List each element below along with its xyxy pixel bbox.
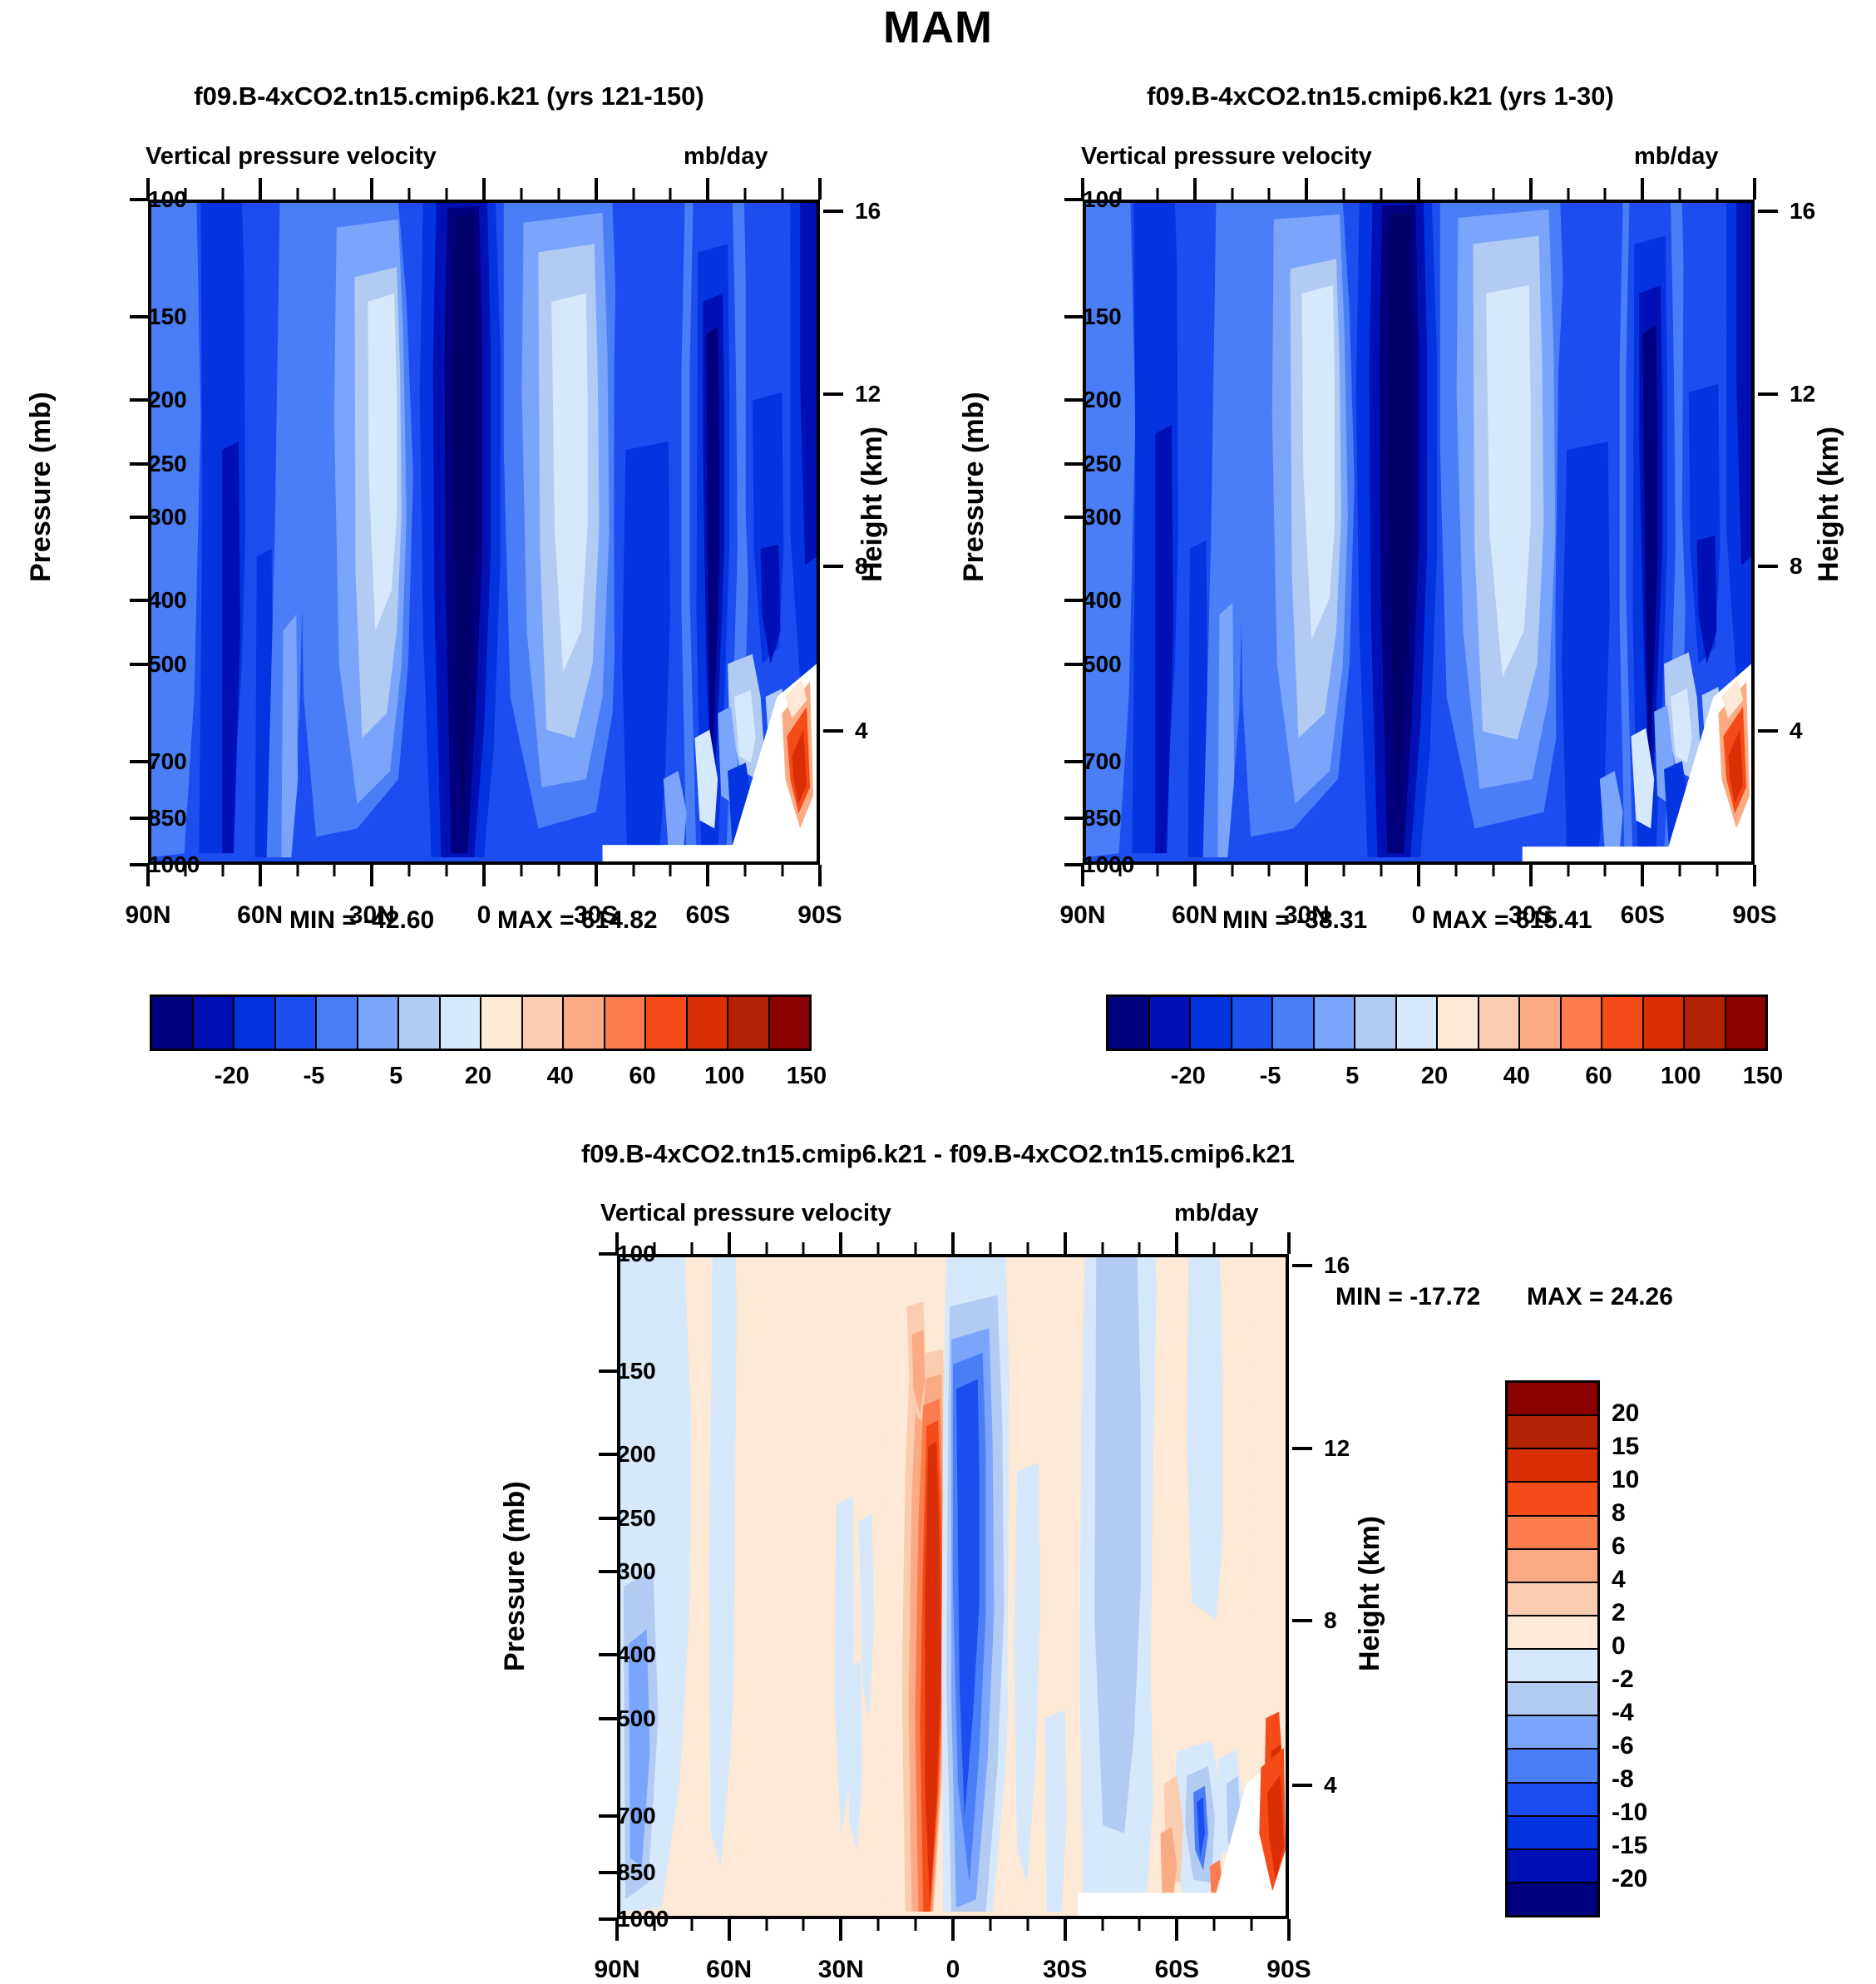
latitude-tick-mark [1193,865,1197,886]
colorbar-cell [194,997,235,1049]
colorbar-cell [1508,1583,1597,1616]
max-label-top-right: MAX = 615.41 [1432,906,1592,935]
latitude-minor-tick [1492,865,1494,876]
colorbar-cell [1273,997,1315,1049]
latitude-minor-tick [1156,865,1158,876]
latitude-minor-tick [915,1919,917,1931]
colorbar-cell [1508,1449,1597,1483]
colorbar-cell [1562,997,1603,1049]
colorbar-cell [1508,1550,1597,1583]
latitude-tick-mark [595,865,598,886]
latitude-minor-tick-top [1251,1242,1253,1254]
latitude-tick-mark-top [1529,178,1533,200]
latitude-tick-mark-top [951,1232,955,1254]
pressure-tick-mark [1064,817,1083,820]
height-tick-mark [1758,565,1778,568]
pressure-tick-mark [599,1653,617,1656]
colorbar-cell [1108,997,1150,1049]
colorbar-tick-label: -6 [1612,1732,1634,1760]
latitude-tick-mark [1753,865,1756,886]
height-tick-mark [1292,1447,1312,1450]
height-tick-mark [1758,392,1778,396]
pressure-tick-mark [130,198,148,201]
colorbar-cell [317,997,358,1049]
latitude-tick-mark-top [259,178,262,200]
colorbar-cell [358,997,400,1049]
colorbar-tick-label: 4 [1612,1566,1626,1594]
latitude-minor-tick [744,865,747,876]
latitude-tick-mark [259,865,262,886]
latitude-minor-tick [408,865,411,876]
y-axis-label-top-right: Pressure (mb) [958,392,990,582]
colorbar-cell [688,997,729,1049]
colorbar-tick-label: 20 [1421,1063,1448,1090]
latitude-tick-label: 90N [125,901,170,930]
latitude-minor-tick-top [1492,188,1494,200]
latitude-tick-mark [370,865,373,886]
latitude-tick-mark [706,865,709,886]
colorbar-cell [1602,997,1644,1049]
panel-subtitle-difference: Vertical pressure velocity [600,1200,891,1227]
panel-units-top-right: mb/day [1634,143,1719,170]
latitude-tick-mark [146,865,150,886]
latitude-tick-mark [951,1919,955,1941]
max-label-difference: MAX = 24.26 [1527,1283,1673,1311]
colorbar-top-left [150,994,812,1051]
main-title: MAM [0,2,1876,53]
colorbar-cell [1508,1817,1597,1850]
latitude-tick-mark [1417,865,1420,886]
latitude-tick-mark [1305,865,1308,886]
min-label-top-right: MIN = -38.31 [1222,906,1367,935]
colorbar-cell [1191,997,1232,1049]
latitude-minor-tick [669,865,672,876]
latitude-minor-tick-top [296,188,299,200]
latitude-tick-label: 30S [1043,1956,1087,1984]
colorbar-cell [523,997,565,1049]
latitude-minor-tick-top [557,188,560,200]
latitude-minor-tick-top [690,1242,693,1254]
pressure-tick-mark [1064,462,1083,466]
height-tick-label: 16 [855,198,881,225]
latitude-tick-mark [1064,1919,1067,1941]
latitude-tick-mark-top [728,1232,731,1254]
latitude-minor-tick-top [632,188,634,200]
latitude-minor-tick-top [184,188,186,200]
pressure-tick-mark [599,1453,617,1456]
pressure-tick-mark [1064,599,1083,602]
colorbar-tick-label: 0 [1612,1632,1626,1661]
latitude-minor-tick-top [1604,188,1607,200]
latitude-tick-mark-top [615,1232,619,1254]
colorbar-tick-label: 2 [1612,1599,1626,1627]
latitude-minor-tick-top [1679,188,1681,200]
colorbar-tick-label: -10 [1612,1799,1647,1827]
latitude-minor-tick-top [408,188,411,200]
latitude-minor-tick [802,1919,805,1931]
colorbar-tick-label: -20 [1612,1865,1647,1893]
colorbar-tick-label: 150 [787,1063,827,1090]
latitude-minor-tick-top [877,1242,880,1254]
height-tick-label: 16 [1790,198,1815,225]
latitude-tick-mark [1529,865,1533,886]
height-tick-label: 8 [1324,1607,1337,1634]
latitude-minor-tick-top [1156,188,1158,200]
colorbar-tick-label: 100 [704,1063,744,1090]
panel-units-top-left: mb/day [684,143,768,170]
latitude-minor-tick-top [782,188,784,200]
colorbar-cell [1508,1850,1597,1883]
colorbar-cell [1508,1784,1597,1817]
latitude-minor-tick-top [915,1242,917,1254]
latitude-tick-mark-top [595,178,598,200]
latitude-tick-label: 90S [1732,901,1776,930]
latitude-minor-tick-top [1138,1242,1141,1254]
pressure-tick-mark [130,462,148,466]
colorbar-cell [1508,1517,1597,1550]
latitude-tick-mark-top [370,178,373,200]
colorbar-tick-label: -8 [1612,1765,1634,1794]
latitude-tick-label: 0 [477,901,491,930]
colorbar-cell [1726,997,1766,1049]
pressure-tick-mark [599,1871,617,1874]
latitude-tick-label: 0 [946,1956,960,1984]
min-label-difference: MIN = -17.72 [1335,1283,1480,1311]
colorbar-tick-label: -2 [1612,1666,1634,1694]
latitude-minor-tick [1213,1919,1216,1931]
colorbar-tick-label: 40 [1503,1063,1530,1090]
colorbar-cell [152,997,194,1049]
height-tick-label: 4 [1790,718,1803,744]
latitude-tick-mark-top [1081,178,1084,200]
latitude-tick-label: 60S [1621,901,1665,930]
colorbar-cell [1520,997,1562,1049]
latitude-tick-mark-top [1417,178,1420,200]
colorbar-labels-top-right: -20-55204060100150 [1106,1063,1763,1096]
colorbar-cell [1644,997,1686,1049]
height-tick-label: 12 [855,381,881,407]
plot-area-top-left [148,200,820,865]
pressure-tick-mark [599,1370,617,1373]
latitude-minor-tick [184,865,186,876]
colorbar-tick-label: -15 [1612,1832,1647,1860]
latitude-minor-tick-top [1380,188,1383,200]
latitude-tick-mark [1287,1919,1291,1941]
colorbar-cell [1508,1616,1597,1650]
colorbar-tick-label: -20 [215,1063,249,1090]
pressure-tick-mark [599,1517,617,1520]
height-tick-mark [823,210,843,213]
latitude-tick-label: 90N [594,1956,639,1984]
pressure-tick-mark [130,516,148,519]
pressure-tick-mark [599,1570,617,1573]
latitude-minor-tick-top [1026,1242,1029,1254]
contour-field-difference [620,1257,1286,1916]
height-tick-label: 4 [855,718,868,744]
latitude-minor-tick [333,865,336,876]
colorbar-tick-label: -20 [1171,1063,1206,1090]
pressure-tick-mark [130,817,148,820]
latitude-minor-tick-top [1567,188,1569,200]
colorbar-tick-label: 5 [1345,1063,1359,1090]
height-tick-mark [1292,1784,1312,1787]
colorbar-cell [441,997,482,1049]
panel-title-top-left: f09.B-4xCO2.tn15.cmip6.k21 (yrs 121-150) [17,81,881,111]
height-tick-label: 8 [1790,553,1803,580]
latitude-minor-tick [1118,865,1121,876]
colorbar-tick-label: 6 [1612,1532,1626,1561]
latitude-minor-tick-top [765,1242,768,1254]
latitude-tick-mark [728,1919,731,1941]
colorbar-cell [1232,997,1274,1049]
latitude-tick-label: 60S [686,901,730,930]
latitude-minor-tick [1679,865,1681,876]
contour-field-top-left [151,203,817,861]
colorbar-cell [1508,1750,1597,1783]
height-tick-mark [823,729,843,733]
latitude-tick-mark-top [482,178,486,200]
colorbar-cell [481,997,523,1049]
latitude-minor-tick-top [333,188,336,200]
colorbar-cell [1355,997,1397,1049]
height-tick-label: 4 [1324,1772,1337,1799]
latitude-tick-mark [482,865,486,886]
panel-subtitle-top-left: Vertical pressure velocity [146,143,437,170]
colorbar-cell [399,997,441,1049]
colorbar-cell [1315,997,1356,1049]
latitude-minor-tick [1026,1919,1029,1931]
contour-field-top-right [1086,203,1751,861]
latitude-minor-tick-top [802,1242,805,1254]
colorbar-tick-label: 20 [465,1063,491,1090]
latitude-tick-label: 0 [1412,901,1426,930]
latitude-minor-tick-top [1118,188,1121,200]
latitude-minor-tick-top [1343,188,1345,200]
colorbar-cell [1508,1416,1597,1449]
latitude-minor-tick [1231,865,1233,876]
colorbar-cell [1508,1650,1597,1683]
colorbar-cell [1508,1883,1597,1915]
colorbar-cell [1508,1716,1597,1750]
colorbar-tick-label: -5 [304,1063,325,1090]
latitude-minor-tick-top [653,1242,655,1254]
right-axis-label-difference: Height (km) [1354,1516,1386,1671]
latitude-tick-mark-top [1753,178,1756,200]
colorbar-cell [564,997,605,1049]
height-tick-label: 12 [1790,381,1815,407]
latitude-minor-tick [557,865,560,876]
latitude-minor-tick-top [1101,1242,1103,1254]
plot-area-difference [617,1254,1289,1919]
pressure-tick-mark [599,1717,617,1720]
latitude-minor-tick-top [1716,188,1719,200]
latitude-minor-tick [690,1919,693,1931]
colorbar-cell [234,997,276,1049]
latitude-minor-tick-top [744,188,747,200]
height-tick-label: 16 [1324,1252,1350,1279]
colorbar-tick-label: 60 [629,1063,655,1090]
latitude-minor-tick [221,865,224,876]
latitude-tick-label: 90S [1266,1956,1311,1984]
pressure-tick-mark [599,1814,617,1818]
latitude-minor-tick-top [446,188,448,200]
latitude-minor-tick-top [1454,188,1457,200]
colorbar-cell [1397,997,1439,1049]
colorbar-tick-label: 100 [1661,1063,1701,1090]
latitude-tick-mark [615,1919,619,1941]
latitude-tick-mark [839,1919,842,1941]
colorbar-cell [1479,997,1521,1049]
colorbar-tick-label: 8 [1612,1499,1626,1527]
latitude-minor-tick [1251,1919,1253,1931]
colorbar-difference [1505,1380,1600,1917]
colorbar-tick-label: 5 [389,1063,402,1090]
figure-root: MAM f09.B-4xCO2.tn15.cmip6.k21 (yrs 121-… [0,0,1876,1982]
latitude-tick-mark-top [706,178,709,200]
height-tick-label: 12 [1324,1435,1350,1462]
latitude-tick-label: 60N [237,901,283,930]
height-tick-mark [1292,1264,1312,1267]
latitude-tick-label: 30N [818,1956,864,1984]
latitude-minor-tick [1268,865,1271,876]
pressure-tick-mark [1064,315,1083,318]
latitude-tick-mark-top [818,178,822,200]
latitude-minor-tick [1101,1919,1103,1931]
latitude-tick-label: 60S [1155,1956,1199,1984]
latitude-minor-tick-top [669,188,672,200]
latitude-minor-tick-top [520,188,522,200]
colorbar-tick-label: -5 [1260,1063,1281,1090]
colorbar-cell [646,997,688,1049]
latitude-minor-tick [520,865,522,876]
plot-area-top-right [1083,200,1755,865]
y-axis-label-difference: Pressure (mb) [499,1481,531,1671]
y-axis-label-top-left: Pressure (mb) [25,392,57,582]
latitude-tick-mark-top [839,1232,842,1254]
latitude-minor-tick [1716,865,1719,876]
right-axis-label-top-right: Height (km) [1813,427,1845,582]
pressure-tick-mark [1064,663,1083,666]
panel-title-difference: f09.B-4xCO2.tn15.cmip6.k21 - f09.B-4xCO2… [314,1139,1562,1169]
latitude-minor-tick [1380,865,1383,876]
height-tick-mark [1758,729,1778,733]
latitude-minor-tick [1343,865,1345,876]
latitude-minor-tick [1604,865,1607,876]
colorbar-cell [276,997,318,1049]
latitude-minor-tick-top [1231,188,1233,200]
latitude-tick-mark-top [1193,178,1197,200]
pressure-tick-mark [130,315,148,318]
height-tick-mark [823,392,843,396]
latitude-tick-label: 90S [797,901,842,930]
colorbar-cell [1438,997,1479,1049]
latitude-minor-tick [1138,1919,1141,1931]
colorbar-cell [1508,1483,1597,1516]
latitude-tick-label: 60N [706,1956,752,1984]
latitude-tick-mark [1641,865,1644,886]
pressure-tick-mark [1064,198,1083,201]
pressure-tick-mark [1064,398,1083,402]
latitude-minor-tick [765,1919,768,1931]
latitude-minor-tick-top [989,1242,991,1254]
pressure-tick-mark [599,1917,617,1921]
latitude-tick-mark-top [1287,1232,1291,1254]
latitude-minor-tick [877,1919,880,1931]
colorbar-labels-top-left: -20-55204060100150 [150,1063,807,1096]
pressure-tick-mark [1064,863,1083,866]
height-tick-mark [1758,210,1778,213]
colorbar-cell [1685,997,1726,1049]
height-tick-mark [1292,1619,1312,1622]
latitude-minor-tick [653,1919,655,1931]
latitude-tick-label: 90N [1059,901,1105,930]
pressure-tick-mark [1064,760,1083,763]
pressure-tick-mark [130,663,148,666]
colorbar-cell [728,997,770,1049]
colorbar-top-right [1106,994,1768,1051]
latitude-minor-tick [632,865,634,876]
latitude-tick-mark-top [1305,178,1308,200]
pressure-tick-mark [130,863,148,866]
min-label-top-left: MIN = -42.60 [289,906,434,935]
colorbar-tick-label: 20 [1612,1399,1639,1428]
colorbar-cell [770,997,810,1049]
latitude-minor-tick [296,865,299,876]
pressure-tick-mark [1064,516,1083,519]
latitude-minor-tick [1567,865,1569,876]
latitude-minor-tick [1454,865,1457,876]
latitude-tick-mark [1175,1919,1178,1941]
colorbar-tick-label: 150 [1743,1063,1783,1090]
colorbar-cell [1150,997,1192,1049]
height-tick-label: 8 [855,553,868,580]
colorbar-tick-label: 10 [1612,1466,1639,1494]
latitude-minor-tick-top [1213,1242,1216,1254]
latitude-tick-mark [1081,865,1084,886]
panel-subtitle-top-right: Vertical pressure velocity [1081,143,1372,170]
colorbar-tick-label: 15 [1612,1433,1639,1461]
pressure-tick-mark [599,1252,617,1256]
colorbar-cell [1508,1383,1597,1416]
latitude-tick-mark-top [146,178,150,200]
height-tick-mark [823,565,843,568]
pressure-tick-mark [130,760,148,763]
latitude-minor-tick [989,1919,991,1931]
pressure-tick-mark [130,599,148,602]
colorbar-cell [1508,1683,1597,1716]
latitude-tick-mark-top [1641,178,1644,200]
latitude-tick-label: 60N [1172,901,1217,930]
latitude-tick-mark-top [1175,1232,1178,1254]
latitude-minor-tick [446,865,448,876]
colorbar-tick-label: -4 [1612,1699,1634,1727]
colorbar-tick-label: 60 [1585,1063,1612,1090]
latitude-tick-mark [818,865,822,886]
latitude-minor-tick-top [221,188,224,200]
panel-title-top-right: f09.B-4xCO2.tn15.cmip6.k21 (yrs 1-30) [948,81,1813,111]
pressure-tick-mark [130,398,148,402]
latitude-minor-tick [782,865,784,876]
colorbar-tick-label: 40 [547,1063,574,1090]
colorbar-labels-difference: 20151086420-2-4-6-8-10-15-20 [1612,1380,1711,1912]
latitude-tick-mark-top [1064,1232,1067,1254]
latitude-minor-tick-top [1268,188,1271,200]
panel-units-difference: mb/day [1174,1200,1259,1227]
max-label-top-left: MAX = 614.82 [497,906,658,935]
colorbar-cell [605,997,647,1049]
